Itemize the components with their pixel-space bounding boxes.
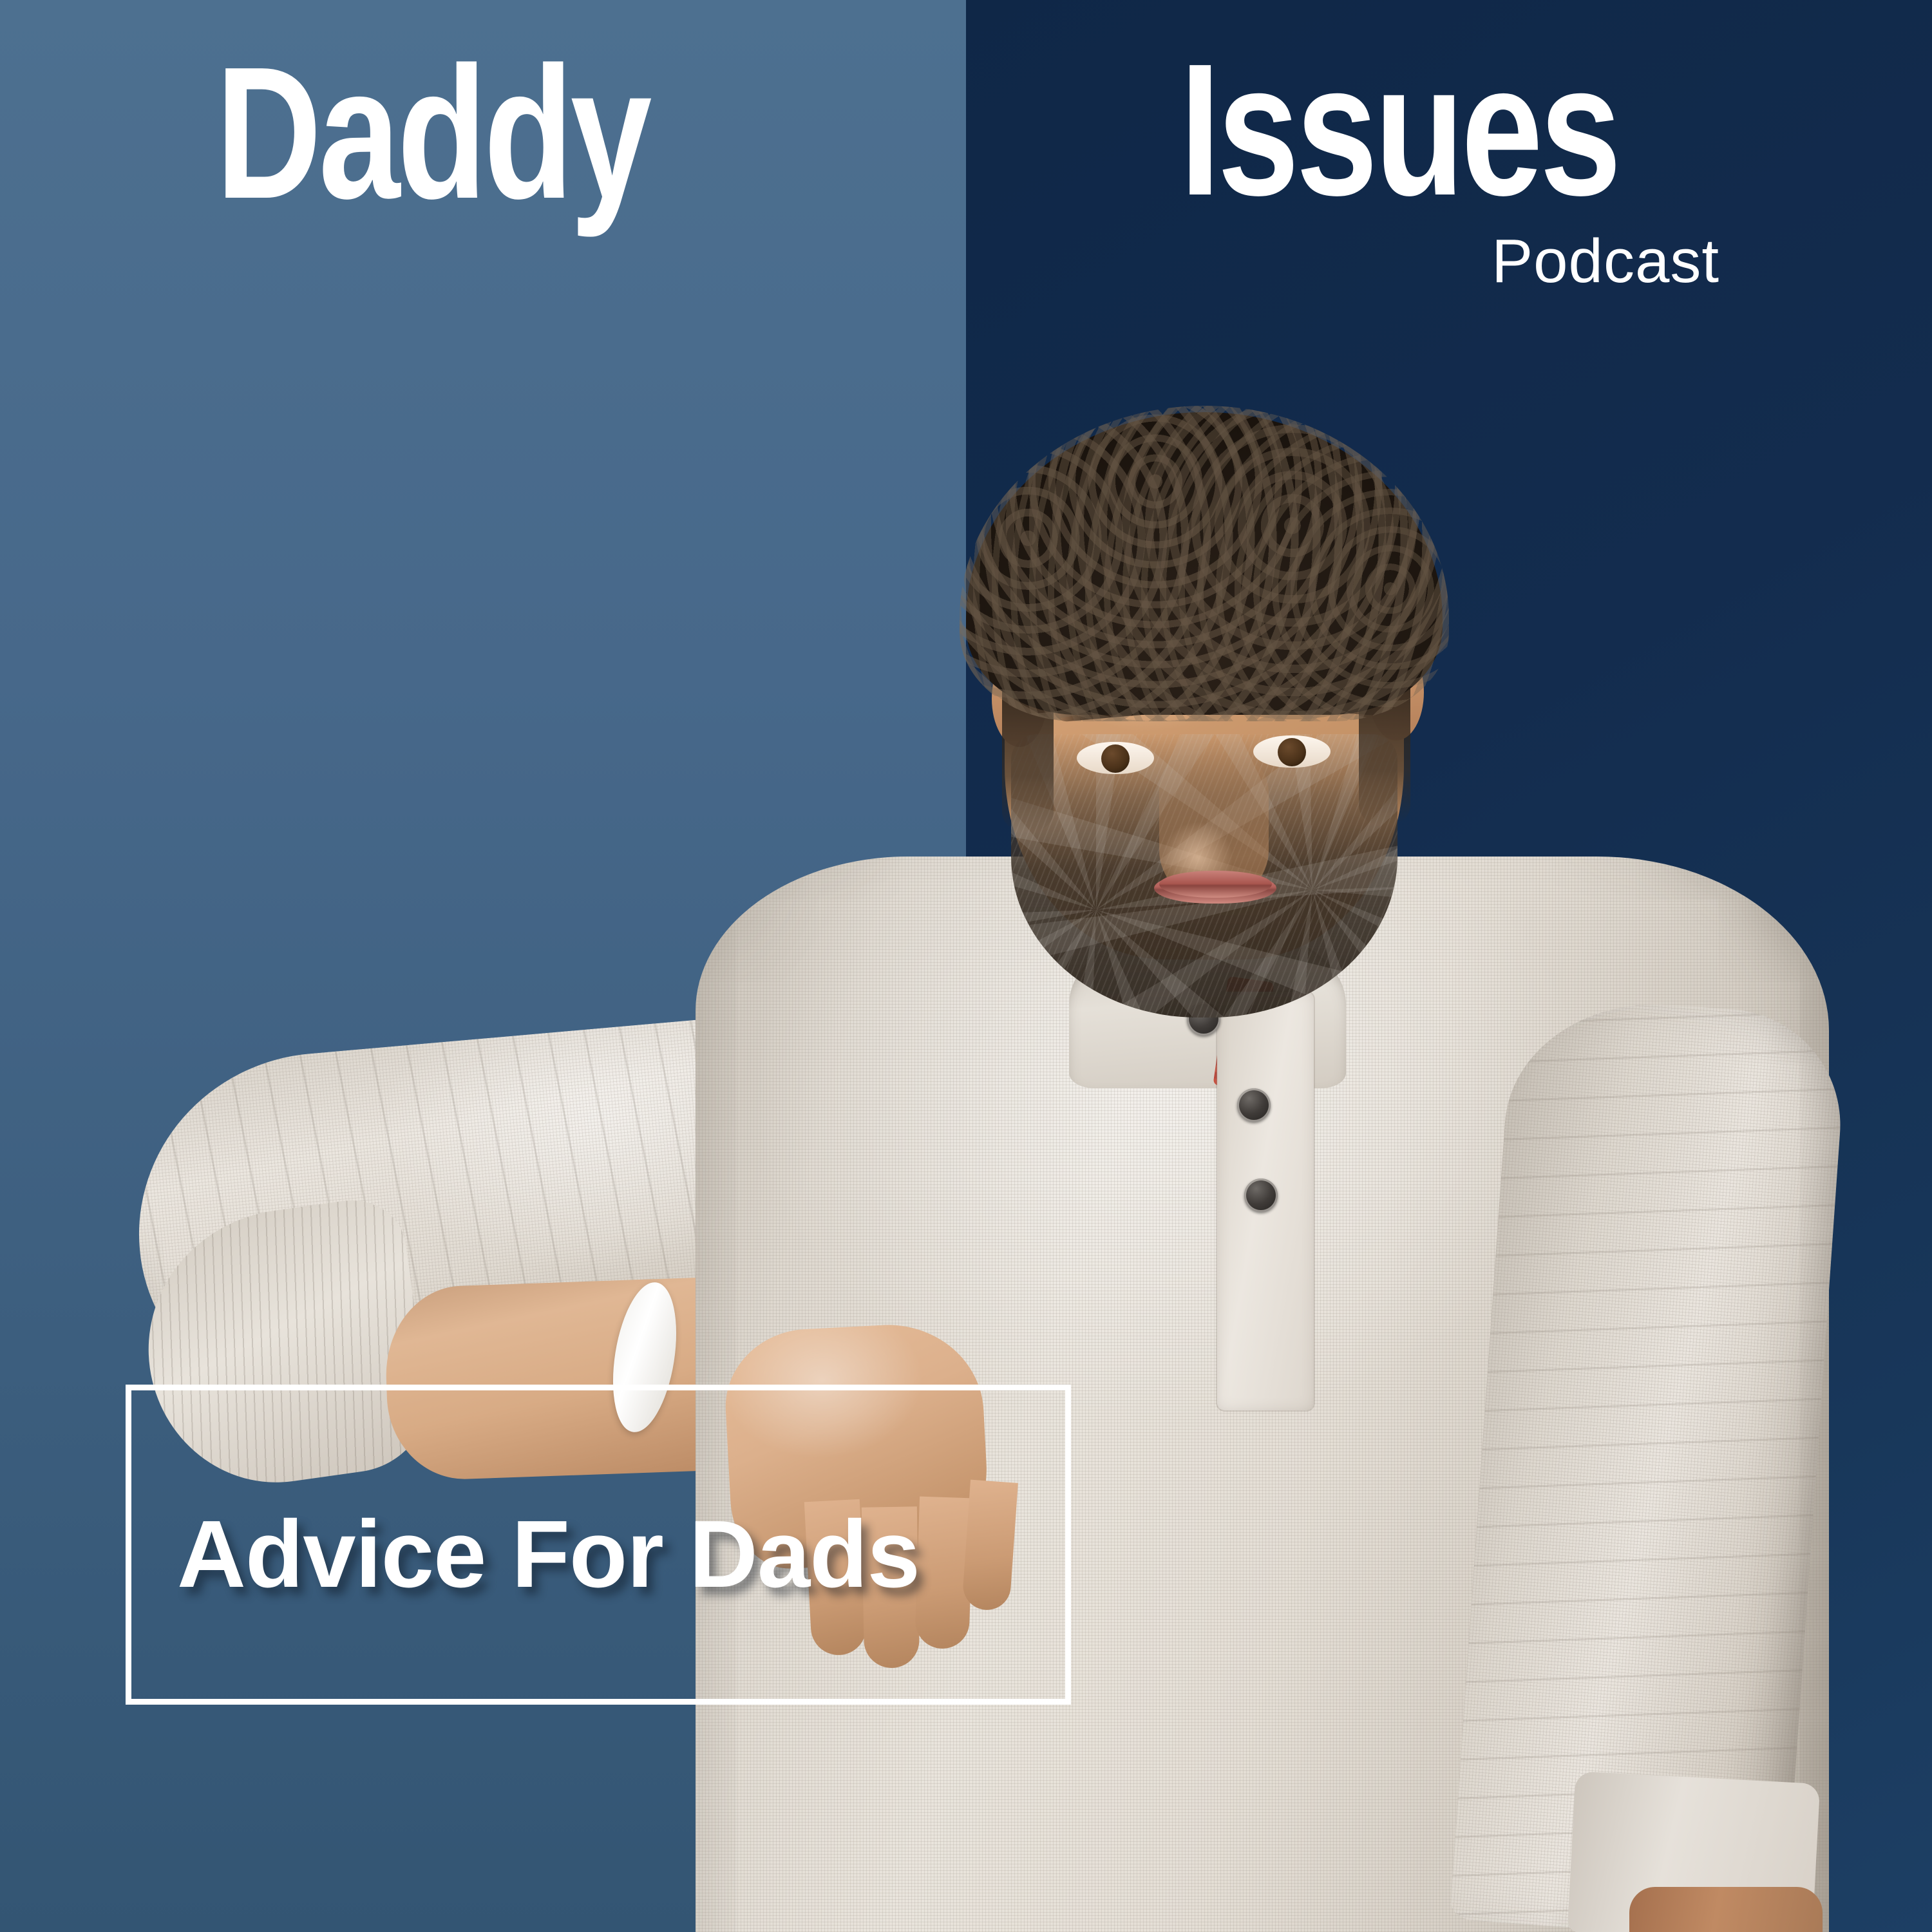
subtitle-podcast: Podcast <box>1492 231 1719 292</box>
tagline-text: Advice For Dads <box>177 1507 920 1602</box>
background-panel-right <box>966 0 1932 1932</box>
title-word-issues: Issues <box>1180 35 1618 223</box>
title-word-daddy: Daddy <box>216 39 649 227</box>
podcast-cover-art: Daddy Issues Podcast Advice For Dads <box>0 0 1932 1932</box>
